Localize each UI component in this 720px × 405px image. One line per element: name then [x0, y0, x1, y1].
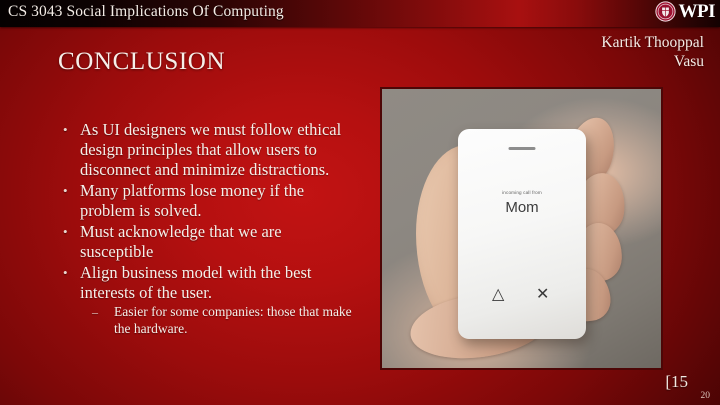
phone-caller-name: Mom [458, 199, 586, 216]
sub-bullet-marker-icon: – [92, 304, 114, 321]
bullet-marker-icon: • [58, 181, 80, 201]
author-line-1: Kartik Thooppal [601, 33, 704, 52]
minimal-phone-device: incoming call from Mom △ ✕ [458, 129, 586, 339]
decline-call-icon: ✕ [536, 287, 549, 303]
slide-photo: incoming call from Mom △ ✕ [380, 87, 663, 370]
bullet-text: Must acknowledge that we are susceptible [80, 222, 358, 262]
author-line-2: Vasu [601, 52, 704, 71]
citation-reference: [15 [665, 372, 688, 392]
list-item: • Align business model with the best int… [58, 263, 358, 303]
photo-background: incoming call from Mom △ ✕ [382, 89, 661, 368]
bullet-list: • As UI designers we must follow ethical… [58, 120, 358, 337]
phone-caller-label: incoming call from [458, 190, 586, 195]
presentation-slide: CS 3043 Social Implications Of Computing… [0, 0, 720, 405]
author-name: Kartik Thooppal Vasu [601, 33, 704, 71]
bullet-text: As UI designers we must follow ethical d… [80, 120, 358, 180]
wpi-logo: WPI [655, 1, 716, 22]
wpi-wordmark: WPI [679, 1, 716, 22]
list-item: • Many platforms lose money if the probl… [58, 181, 358, 221]
answer-call-icon: △ [492, 287, 504, 303]
bullet-text: Many platforms lose money if the problem… [80, 181, 358, 221]
list-item: • As UI designers we must follow ethical… [58, 120, 358, 180]
bullet-text: Align business model with the best inter… [80, 263, 358, 303]
course-title: CS 3043 Social Implications Of Computing [8, 3, 284, 21]
slide-number: 20 [701, 391, 711, 401]
page-title: CONCLUSION [58, 48, 225, 76]
wpi-seal-icon [655, 1, 676, 22]
bullet-marker-icon: • [58, 263, 80, 283]
phone-speaker-icon [509, 147, 536, 150]
slide-header-bar: CS 3043 Social Implications Of Computing… [0, 0, 720, 27]
list-item: • Must acknowledge that we are susceptib… [58, 222, 358, 262]
bullet-marker-icon: • [58, 120, 80, 140]
sub-bullet-text: Easier for some companies: those that ma… [114, 304, 358, 337]
bullet-marker-icon: • [58, 222, 80, 242]
sub-list-item: – Easier for some companies: those that … [92, 304, 358, 337]
